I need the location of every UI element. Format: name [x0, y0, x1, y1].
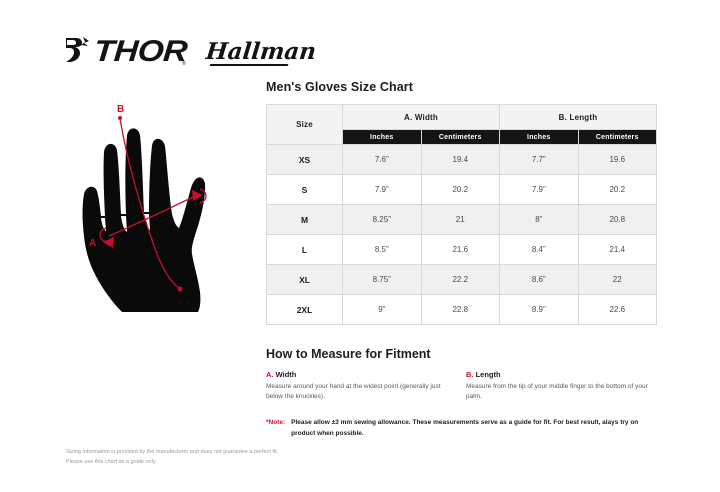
hallman-logo: Hallman: [200, 40, 316, 64]
how-to-width-name: Width: [276, 370, 297, 379]
table-row: S 7.9” 20.2 7.9” 20.2: [267, 175, 657, 205]
how-to-length-block: B. Length Measure from the tip of your m…: [466, 370, 656, 402]
content-column: Men's Gloves Size Chart Size A. Width B.…: [266, 80, 658, 439]
cell-width-inches: 7.6”: [343, 145, 422, 175]
how-to-measure-section: How to Measure for Fitment A. Width Meas…: [266, 347, 658, 439]
length-line-end-dot: [178, 287, 183, 292]
footer-line-1: Sizing information is provided by the ma…: [66, 447, 426, 457]
size-chart-table: Size A. Width B. Length Inches Centimete…: [266, 104, 657, 325]
how-to-length-name: Length: [476, 370, 501, 379]
cell-width-centimeters: 21.6: [421, 235, 500, 265]
note-block: *Note: Please allow ±3 mm sewing allowan…: [266, 418, 646, 439]
header-width-centimeters: Centimeters: [421, 130, 500, 145]
width-line-dot: [108, 242, 112, 246]
how-to-length-mark: B.: [466, 370, 474, 379]
how-to-measure-title: How to Measure for Fitment: [266, 347, 658, 361]
cell-length-centimeters: 19.6: [578, 145, 657, 175]
cell-length-inches: 8.6”: [500, 265, 579, 295]
header-length-centimeters: Centimeters: [578, 130, 657, 145]
cell-length-centimeters: 20.2: [578, 175, 657, 205]
cell-size: S: [267, 175, 343, 205]
header-size: Size: [267, 105, 343, 145]
cell-width-inches: 9”: [343, 295, 422, 325]
how-to-width-text: Measure around your hand at the widest p…: [266, 382, 454, 402]
thor-logo: THOR ®: [62, 35, 186, 70]
diagram-label-width: A: [89, 239, 96, 249]
cell-size: L: [267, 235, 343, 265]
cell-width-centimeters: 22.8: [421, 295, 500, 325]
cell-length-centimeters: 22: [578, 265, 657, 295]
cell-length-centimeters: 21.4: [578, 235, 657, 265]
how-to-measure-columns: A. Width Measure around your hand at the…: [266, 370, 658, 402]
header-width-inches: Inches: [343, 130, 422, 145]
cell-size: XS: [267, 145, 343, 175]
page-title: Men's Gloves Size Chart: [266, 80, 658, 94]
cell-width-inches: 8.5”: [343, 235, 422, 265]
cell-size: 2XL: [267, 295, 343, 325]
thor-wordmark: THOR: [93, 37, 188, 67]
brand-bar: THOR ® Hallman: [62, 32, 316, 72]
hallman-wordmark: Hallman: [204, 40, 316, 63]
cell-length-inches: 8.9”: [500, 295, 579, 325]
footer-disclaimer: Sizing information is provided by the ma…: [66, 447, 426, 467]
cell-width-centimeters: 22.2: [421, 265, 500, 295]
cell-size: M: [267, 205, 343, 235]
header-length-group: B. Length: [500, 105, 657, 130]
table-row: XL 8.75” 22.2 8.6” 22: [267, 265, 657, 295]
how-to-length-text: Measure from the tip of your middle fing…: [466, 382, 656, 402]
table-row: XS 7.6” 19.4 7.7” 19.6: [267, 145, 657, 175]
cell-width-centimeters: 21: [421, 205, 500, 235]
cell-width-inches: 7.9”: [343, 175, 422, 205]
hand-measurement-diagram: B A: [62, 96, 270, 314]
footer-line-2: Please use this chart as a guide only.: [66, 457, 426, 467]
cell-length-inches: 8”: [500, 205, 579, 235]
cell-length-centimeters: 20.8: [578, 205, 657, 235]
cell-length-inches: 7.9”: [500, 175, 579, 205]
table-row: M 8.25” 21 8” 20.8: [267, 205, 657, 235]
diagram-label-length: B: [117, 105, 124, 115]
cell-width-inches: 8.75”: [343, 265, 422, 295]
length-line-start-dot: [118, 116, 122, 120]
cell-width-centimeters: 19.4: [421, 145, 500, 175]
table-header-group-row: Size A. Width B. Length: [267, 105, 657, 130]
how-to-width-mark: A.: [266, 370, 274, 379]
size-chart-page: THOR ® Hallman: [0, 0, 720, 492]
how-to-length-heading: B. Length: [466, 370, 656, 379]
table-row: L 8.5” 21.6 8.4” 21.4: [267, 235, 657, 265]
cell-length-inches: 8.4”: [500, 235, 579, 265]
cell-width-inches: 8.25”: [343, 205, 422, 235]
thor-helmet-icon: [62, 35, 92, 70]
header-length-inches: Inches: [500, 130, 579, 145]
cell-size: XL: [267, 265, 343, 295]
note-text: Please allow ±3 mm sewing allowance. The…: [291, 418, 646, 439]
cell-width-centimeters: 20.2: [421, 175, 500, 205]
cell-length-centimeters: 22.6: [578, 295, 657, 325]
note-label: *Note:: [266, 418, 285, 439]
header-width-group: A. Width: [343, 105, 500, 130]
how-to-width-block: A. Width Measure around your hand at the…: [266, 370, 466, 402]
hallman-underline-flourish: [209, 64, 288, 66]
table-row: 2XL 9” 22.8 8.9” 22.6: [267, 295, 657, 325]
how-to-width-heading: A. Width: [266, 370, 454, 379]
cell-length-inches: 7.7”: [500, 145, 579, 175]
